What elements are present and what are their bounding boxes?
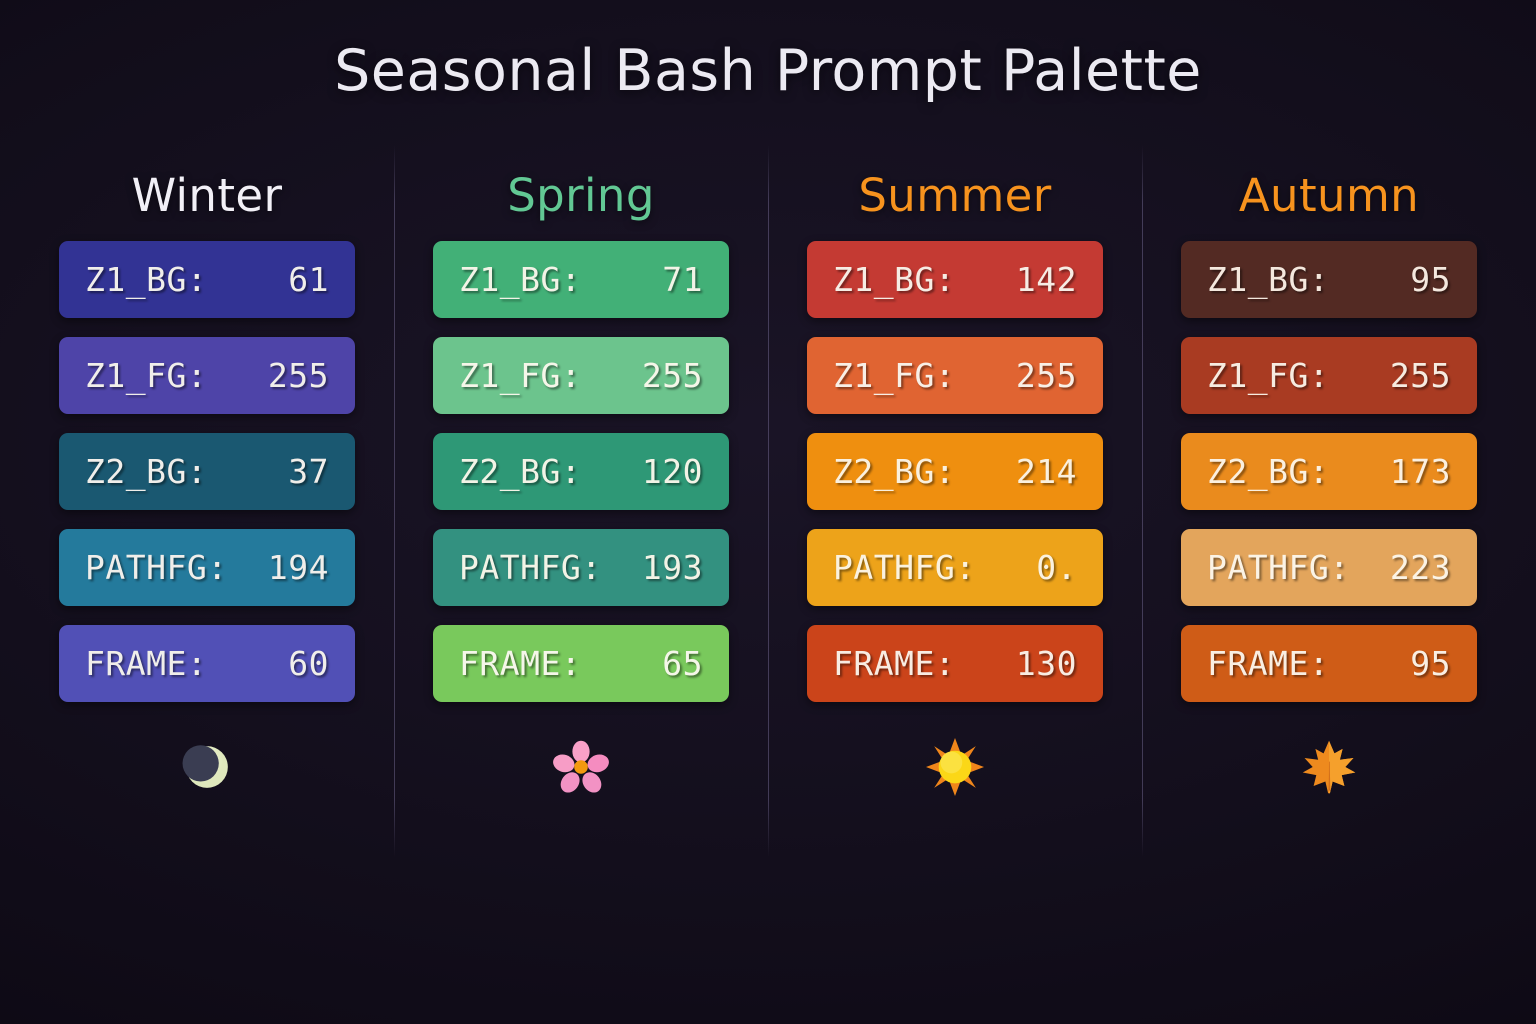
- sun-icon: [920, 732, 990, 802]
- swatch-key: PATHFG:: [1207, 548, 1350, 587]
- season-column-autumn: AutumnZ1_BG: 95Z1_FG:255Z2_BG:173PATHFG:…: [1142, 150, 1516, 870]
- swatch-stack: Z1_BG: 95Z1_FG:255Z2_BG:173PATHFG:223FRA…: [1181, 241, 1477, 702]
- color-swatch[interactable]: PATHFG:223: [1181, 529, 1477, 606]
- swatch-value: 173: [1390, 452, 1451, 491]
- swatch-value: 0.: [1016, 548, 1077, 587]
- color-swatch[interactable]: Z2_BG:214: [807, 433, 1103, 510]
- swatch-value: 223: [1390, 548, 1451, 587]
- swatch-value: 95: [1390, 644, 1451, 683]
- crescent-moon-icon: [172, 732, 242, 802]
- swatch-key: Z1_BG:: [833, 260, 955, 299]
- swatch-key: Z1_FG:: [833, 356, 955, 395]
- color-swatch[interactable]: Z1_FG:255: [433, 337, 729, 414]
- color-swatch[interactable]: Z1_BG: 95: [1181, 241, 1477, 318]
- swatch-key: FRAME:: [833, 644, 955, 683]
- swatch-key: Z2_BG:: [85, 452, 207, 491]
- season-column-summer: SummerZ1_BG:142Z1_FG:255Z2_BG:214PATHFG:…: [768, 150, 1142, 870]
- color-swatch[interactable]: FRAME:130: [807, 625, 1103, 702]
- swatch-value: 60: [268, 644, 329, 683]
- swatch-value: 37: [268, 452, 329, 491]
- swatch-stack: Z1_BG:142Z1_FG:255Z2_BG:214PATHFG: 0.FRA…: [807, 241, 1103, 702]
- swatch-key: Z2_BG:: [833, 452, 955, 491]
- swatch-value: 120: [642, 452, 703, 491]
- swatch-key: PATHFG:: [459, 548, 602, 587]
- season-header-winter: Winter: [132, 172, 283, 219]
- season-columns: WinterZ1_BG: 61Z1_FG:255Z2_BG: 37PATHFG:…: [20, 150, 1516, 870]
- swatch-value: 255: [1390, 356, 1451, 395]
- color-swatch[interactable]: Z1_FG:255: [1181, 337, 1477, 414]
- swatch-value: 61: [268, 260, 329, 299]
- swatch-value: 95: [1390, 260, 1451, 299]
- swatch-key: Z1_FG:: [459, 356, 581, 395]
- swatch-key: PATHFG:: [833, 548, 976, 587]
- season-column-winter: WinterZ1_BG: 61Z1_FG:255Z2_BG: 37PATHFG:…: [20, 150, 394, 870]
- color-swatch[interactable]: PATHFG: 0.: [807, 529, 1103, 606]
- color-swatch[interactable]: FRAME: 65: [433, 625, 729, 702]
- season-column-spring: SpringZ1_BG: 71Z1_FG:255Z2_BG:120PATHFG:…: [394, 150, 768, 870]
- maple-leaf-icon: [1294, 732, 1364, 802]
- color-swatch[interactable]: Z2_BG:120: [433, 433, 729, 510]
- swatch-key: Z2_BG:: [1207, 452, 1329, 491]
- season-header-summer: Summer: [858, 172, 1051, 219]
- color-swatch[interactable]: Z1_FG:255: [59, 337, 355, 414]
- swatch-key: Z1_BG:: [1207, 260, 1329, 299]
- page-title: Seasonal Bash Prompt Palette: [0, 38, 1536, 104]
- season-header-spring: Spring: [507, 172, 655, 219]
- color-swatch[interactable]: Z1_BG: 61: [59, 241, 355, 318]
- swatch-key: Z2_BG:: [459, 452, 581, 491]
- swatch-key: FRAME:: [459, 644, 581, 683]
- swatch-key: Z1_FG:: [85, 356, 207, 395]
- color-swatch[interactable]: FRAME: 60: [59, 625, 355, 702]
- color-swatch[interactable]: Z1_BG: 71: [433, 241, 729, 318]
- color-swatch[interactable]: FRAME: 95: [1181, 625, 1477, 702]
- swatch-key: Z1_FG:: [1207, 356, 1329, 395]
- swatch-value: 71: [642, 260, 703, 299]
- swatch-key: FRAME:: [1207, 644, 1329, 683]
- swatch-key: Z1_BG:: [459, 260, 581, 299]
- color-swatch[interactable]: Z2_BG:173: [1181, 433, 1477, 510]
- swatch-value: 255: [642, 356, 703, 395]
- swatch-value: 214: [1016, 452, 1077, 491]
- swatch-key: PATHFG:: [85, 548, 228, 587]
- season-header-autumn: Autumn: [1239, 172, 1419, 219]
- swatch-key: Z1_BG:: [85, 260, 207, 299]
- color-swatch[interactable]: PATHFG:193: [433, 529, 729, 606]
- swatch-key: FRAME:: [85, 644, 207, 683]
- swatch-value: 255: [268, 356, 329, 395]
- swatch-value: 194: [268, 548, 329, 587]
- color-swatch[interactable]: Z1_FG:255: [807, 337, 1103, 414]
- swatch-value: 193: [642, 548, 703, 587]
- color-swatch[interactable]: Z1_BG:142: [807, 241, 1103, 318]
- swatch-value: 142: [1016, 260, 1077, 299]
- cherry-blossom-icon: [546, 732, 616, 802]
- swatch-value: 65: [642, 644, 703, 683]
- color-swatch[interactable]: Z2_BG: 37: [59, 433, 355, 510]
- color-swatch[interactable]: PATHFG:194: [59, 529, 355, 606]
- swatch-value: 130: [1016, 644, 1077, 683]
- swatch-stack: Z1_BG: 61Z1_FG:255Z2_BG: 37PATHFG:194FRA…: [59, 241, 355, 702]
- swatch-stack: Z1_BG: 71Z1_FG:255Z2_BG:120PATHFG:193FRA…: [433, 241, 729, 702]
- swatch-value: 255: [1016, 356, 1077, 395]
